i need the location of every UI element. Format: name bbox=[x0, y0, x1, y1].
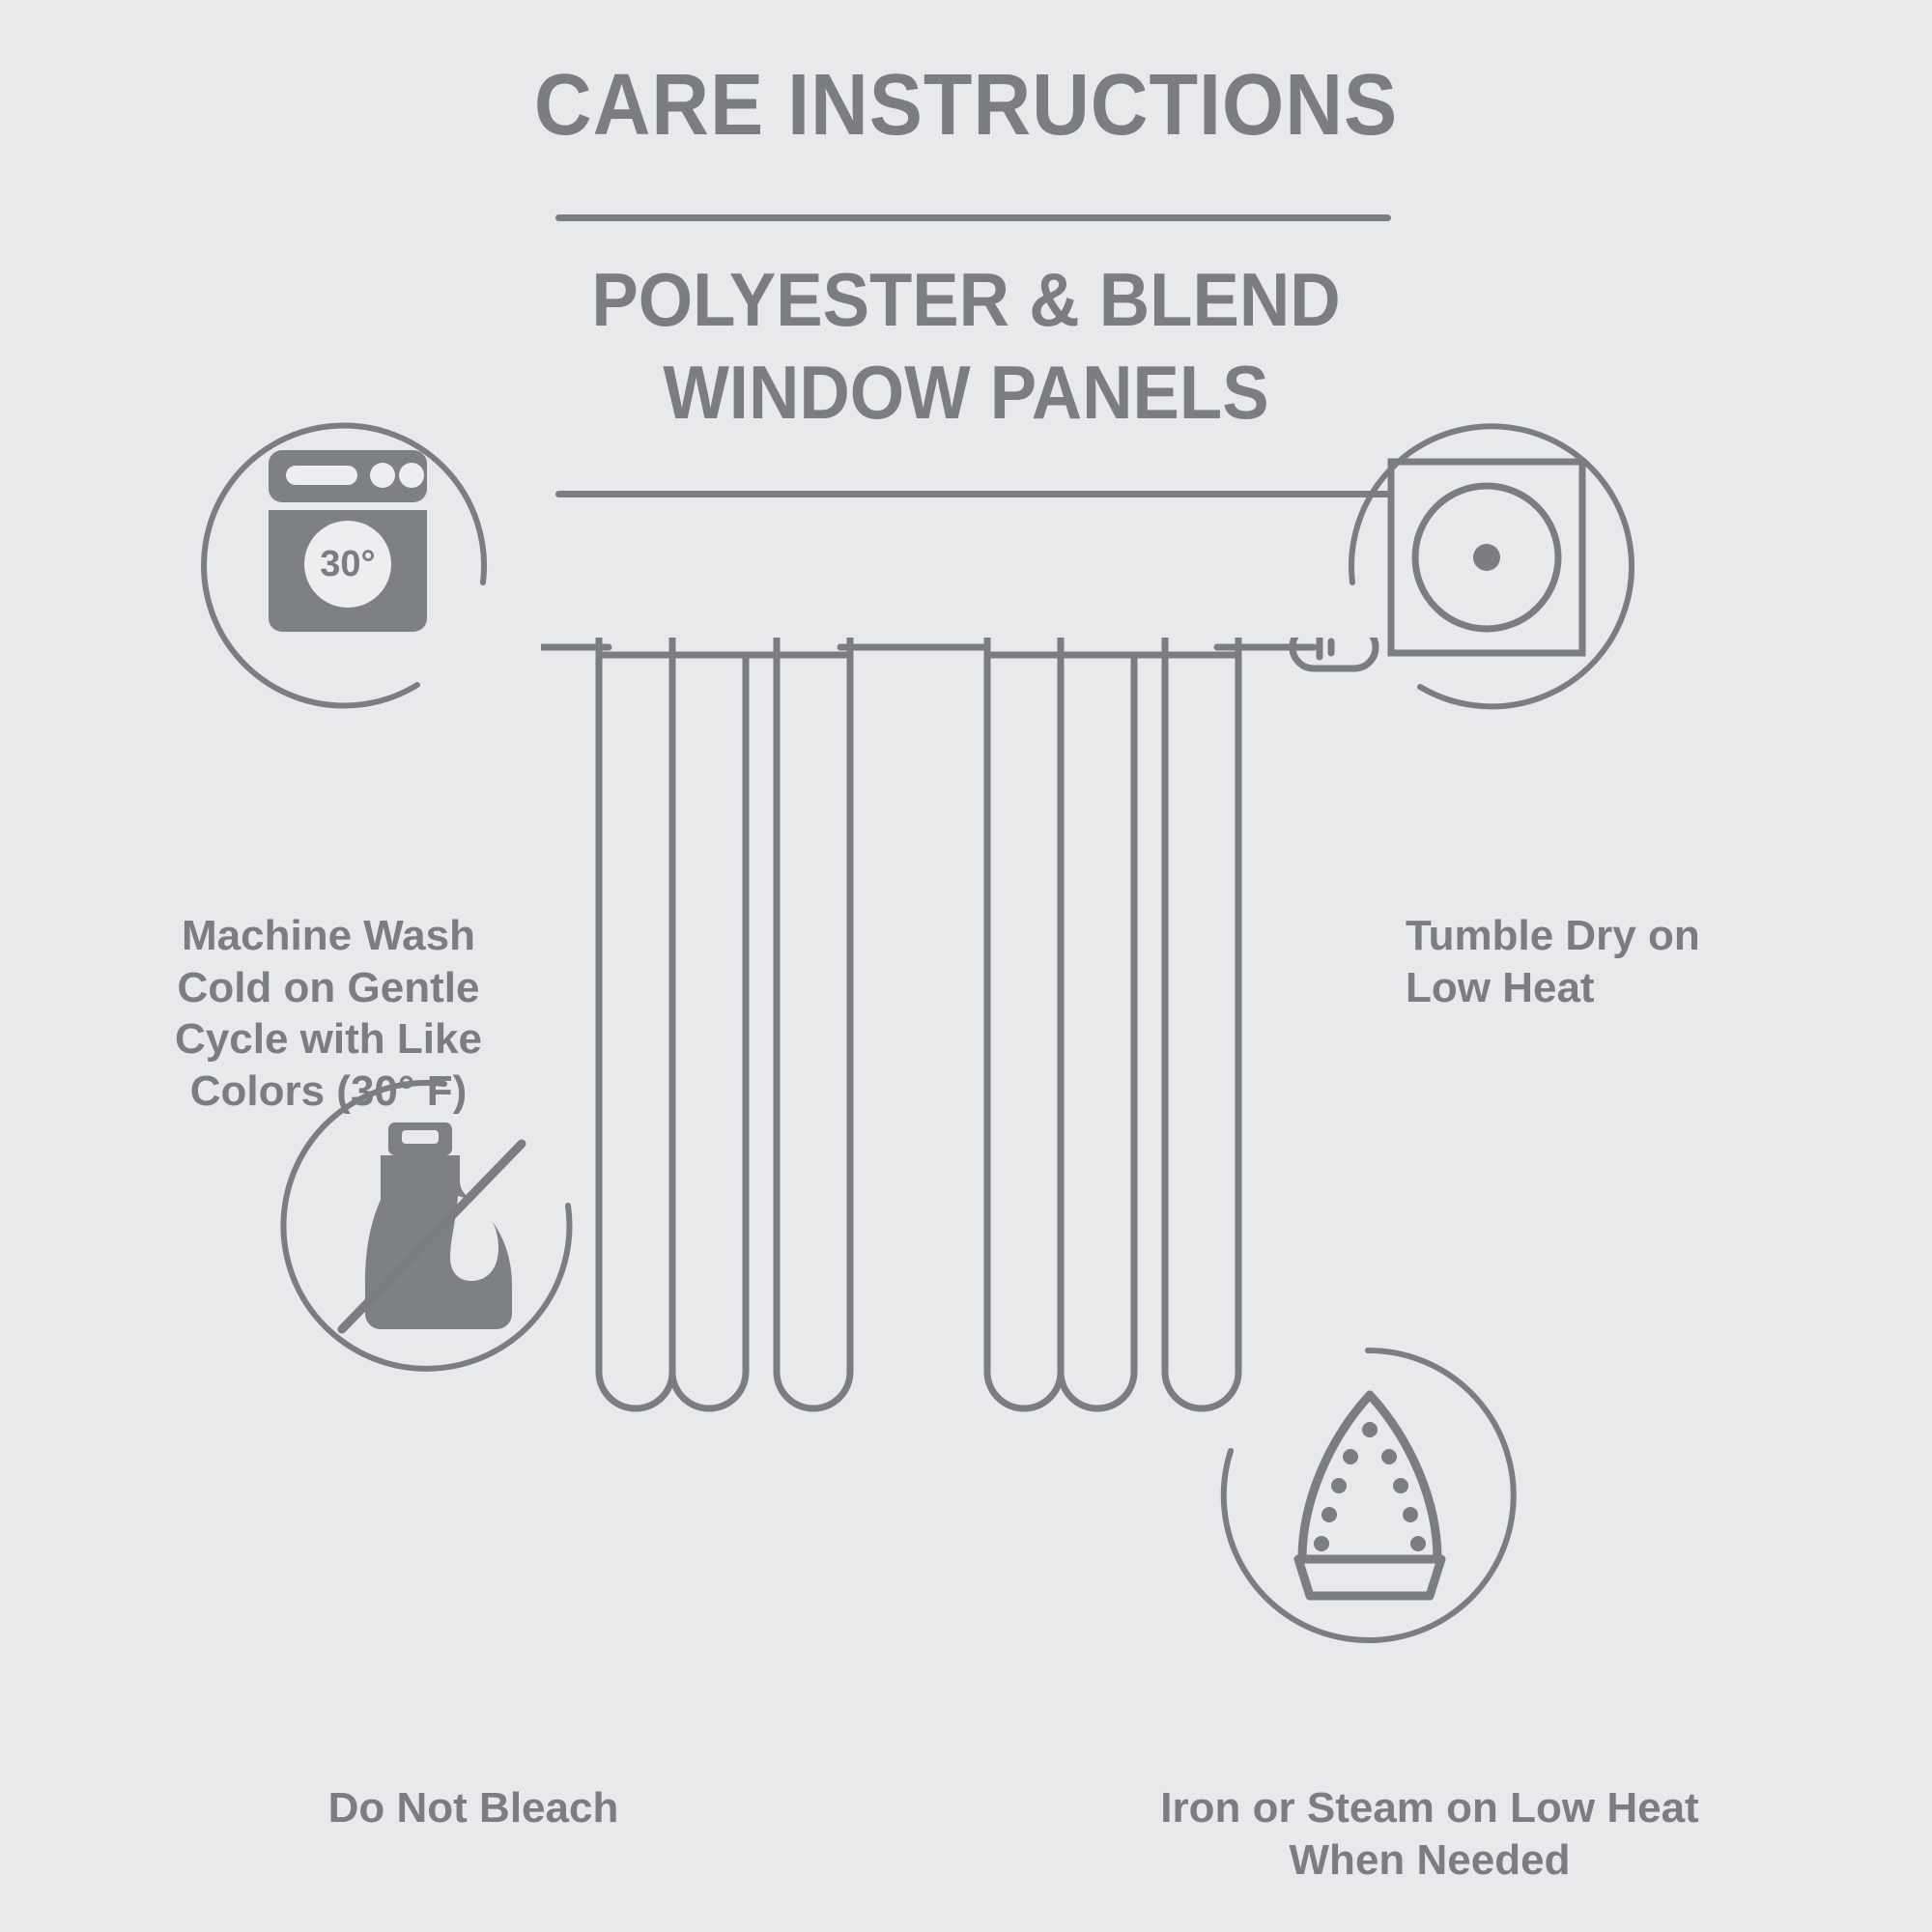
caption-line: Low Heat bbox=[1406, 962, 1908, 1014]
caption-line: Iron or Steam on Low Heat bbox=[1043, 1782, 1816, 1834]
caption-line: Cycle with Like bbox=[106, 1013, 551, 1065]
washing-machine-badge: 30° bbox=[193, 404, 502, 713]
subtitle-line-1: POLYESTER & BLEND bbox=[68, 253, 1864, 346]
caption-line: Do Not Bleach bbox=[174, 1782, 773, 1834]
caption-line: Cold on Gentle bbox=[106, 962, 551, 1014]
divider-top bbox=[555, 214, 1391, 221]
caption-do-not-bleach: Do Not Bleach bbox=[174, 1782, 773, 1834]
caption-line: Colors (30° F) bbox=[106, 1065, 551, 1118]
caption-line: When Needed bbox=[1043, 1834, 1816, 1887]
tumble-dry-badge bbox=[1331, 404, 1640, 713]
iron-steam-holes bbox=[1314, 1422, 1426, 1551]
dryer-heat-dot bbox=[1473, 544, 1500, 571]
iron-badge bbox=[1206, 1333, 1534, 1662]
caption-line: Machine Wash bbox=[106, 910, 551, 962]
page-title: CARE INSTRUCTIONS bbox=[77, 56, 1855, 156]
caption-machine-wash: Machine Wash Cold on Gentle Cycle with L… bbox=[106, 910, 551, 1118]
washing-machine-icon: 30° bbox=[269, 450, 427, 632]
caption-tumble-dry: Tumble Dry on Low Heat bbox=[1406, 910, 1908, 1013]
wash-temperature-label: 30° bbox=[320, 544, 375, 584]
caption-line: Tumble Dry on bbox=[1406, 910, 1908, 962]
caption-iron-steam: Iron or Steam on Low Heat When Needed bbox=[1043, 1782, 1816, 1886]
divider-bottom bbox=[555, 491, 1391, 497]
care-instructions-card: CARE INSTRUCTIONS POLYESTER & BLEND WIND… bbox=[0, 0, 1932, 1932]
